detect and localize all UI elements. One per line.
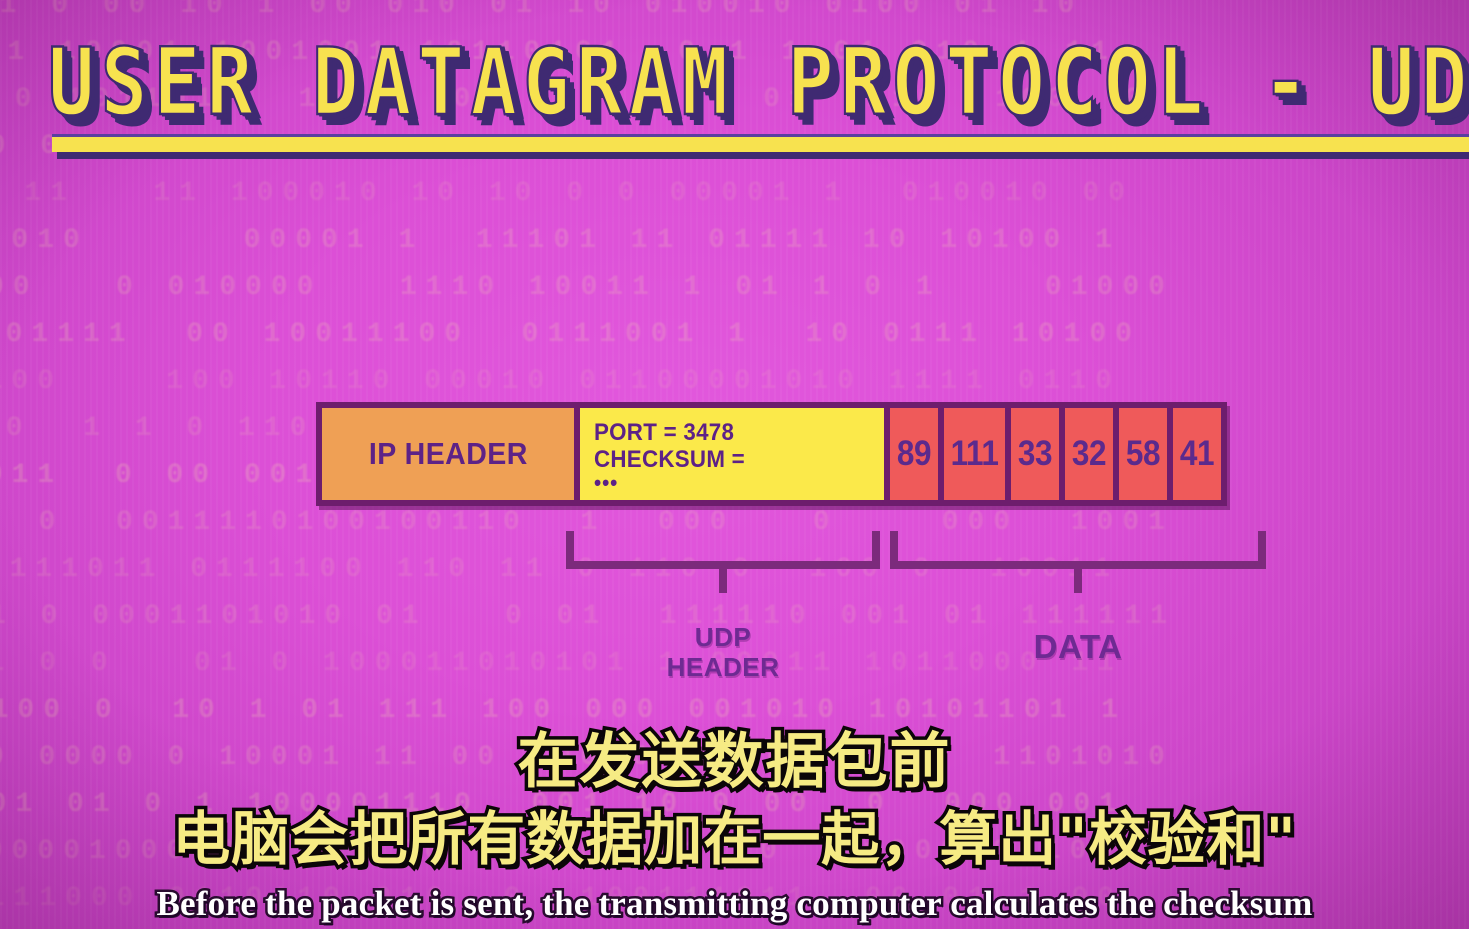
bracket-crossbar (566, 561, 880, 569)
binary-row: 00 0 010000 1110 10011 1 01 1 0 1 01000 (0, 272, 1174, 303)
data-cell-value: 111 (951, 434, 999, 474)
ip-header-label: IP HEADER (369, 436, 528, 472)
udp-header-bracket-label: UDP HEADER (566, 622, 880, 682)
udp-port-line: PORT = 3478 (594, 419, 734, 446)
bracket-stem (1074, 569, 1082, 593)
bracket-crossbar (890, 561, 1266, 569)
data-cell-value: 89 (897, 434, 931, 474)
title-underline-rule (52, 134, 1469, 152)
udp-header-bracket-label-line1: UDP (566, 622, 880, 652)
binary-row: 1 11 11 100010 10 10 0 0 00001 1 010010 … (0, 178, 1134, 209)
binary-row: 1 010 00001 1 11101 11 01111 10 10100 1 (0, 225, 1121, 256)
data-cell: 41 (1167, 408, 1221, 500)
binary-row: 0100 100 10110 00010 01100001010 1111 01… (0, 366, 1121, 397)
data-cell: 33 (1005, 408, 1059, 500)
data-cell: 58 (1113, 408, 1167, 500)
binary-row: 101 0 00 10 1 00 010 01 10 010010 0100 0… (0, 0, 1135, 21)
data-cell-value: 58 (1126, 434, 1160, 474)
subtitle-english: Before the packet is sent, the transmitt… (0, 884, 1469, 924)
data-bracket-label: DATA (890, 632, 1266, 662)
data-bracket (890, 531, 1266, 593)
udp-header-bracket-label-line2: HEADER (566, 652, 880, 682)
udp-header-bracket (566, 531, 880, 593)
subtitle-chinese-line-2: 电脑会把所有数据加在一起，算出"校验和" (0, 792, 1469, 876)
slide-canvas: 101 0 00 10 1 00 010 01 10 010010 0100 0… (0, 0, 1469, 929)
udp-checksum-line: CHECKSUM = (594, 446, 745, 473)
udp-packet-diagram: IP HEADER PORT = 3478 CHECKSUM = ••• 89 … (316, 402, 1227, 506)
data-cell-value: 33 (1018, 434, 1052, 474)
subtitle-chinese-line-1: 在发送数据包前 (0, 713, 1469, 800)
data-cell: 89 (884, 408, 938, 500)
binary-row: 101111 00 10011100 0111001 1 10 0111 101… (0, 319, 1141, 350)
page-title: USER DATAGRAM PROTOCOL - UDP (48, 26, 1469, 138)
data-cell: 32 (1059, 408, 1113, 500)
ip-header-cell: IP HEADER (322, 408, 574, 500)
data-cell-value: 41 (1180, 434, 1214, 474)
udp-ellipsis-line: ••• (594, 473, 618, 492)
data-cell-value: 32 (1072, 434, 1106, 474)
udp-header-cell: PORT = 3478 CHECKSUM = ••• (574, 408, 884, 500)
bracket-stem (719, 569, 727, 593)
data-cell: 111 (938, 408, 1005, 500)
